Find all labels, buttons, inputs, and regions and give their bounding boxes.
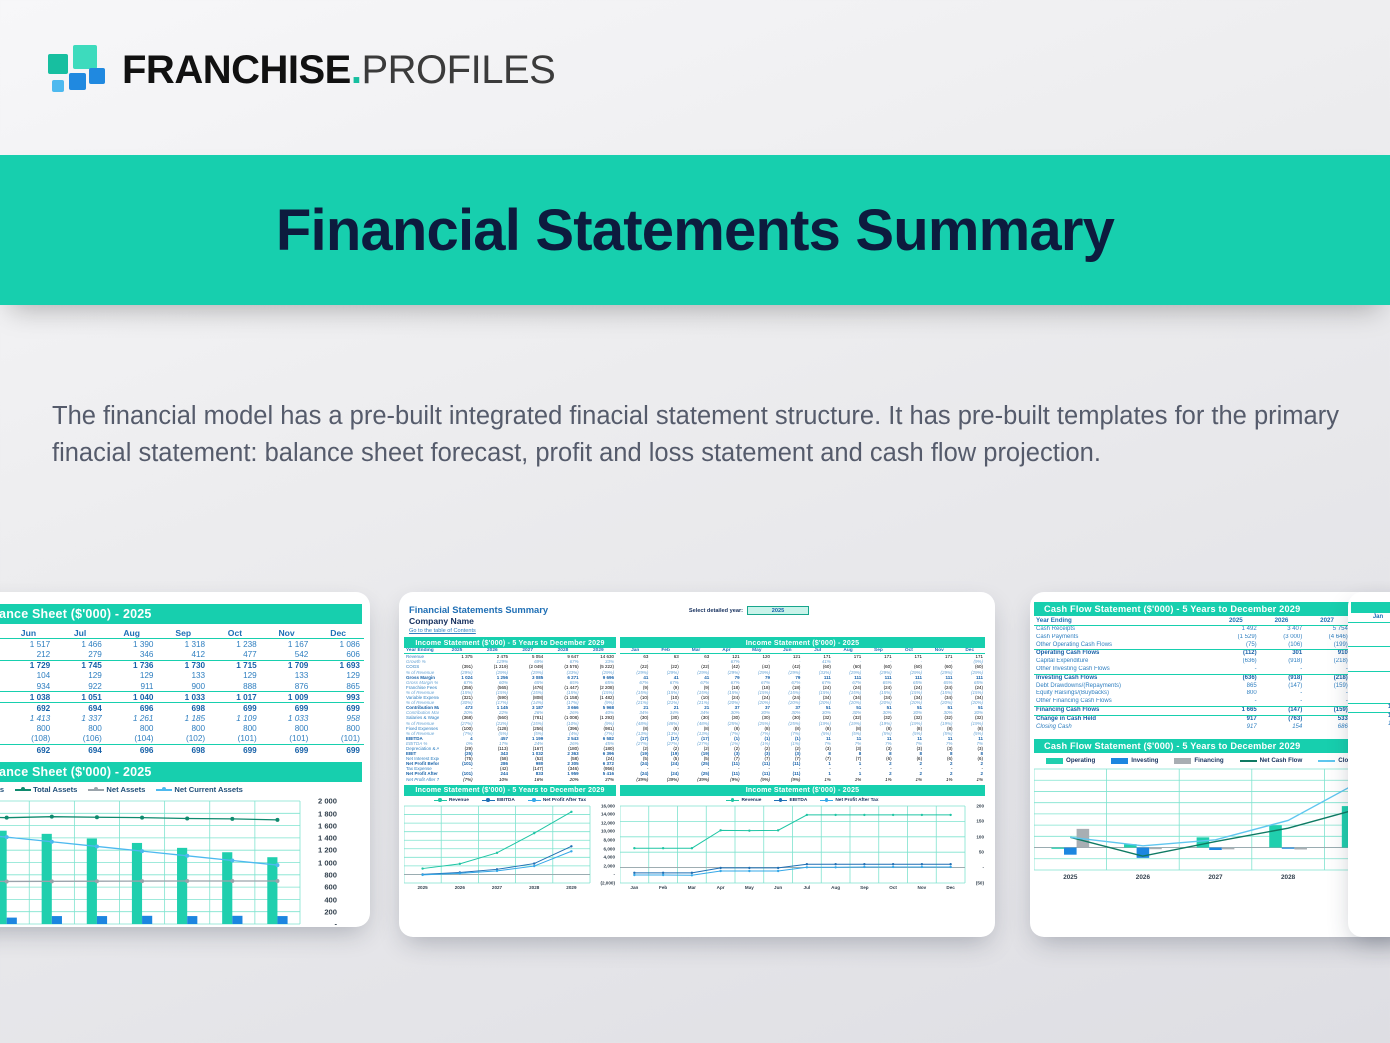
is-annual-title: Income Statement ($'000) - 5 Years to De… bbox=[404, 637, 616, 648]
year-selector-input[interactable]: 2025 bbox=[747, 606, 809, 615]
legend-label: Investing bbox=[1131, 757, 1158, 764]
table-header-row: Jan bbox=[1348, 614, 1390, 622]
balance-sheet-chart-title: Balance Sheet ($'000) - 2025 bbox=[0, 762, 362, 782]
y-tick-label: 1 400 bbox=[318, 834, 337, 843]
y-tick-label: 2,000 bbox=[604, 863, 616, 868]
table-cell: 129 bbox=[54, 671, 106, 681]
table-cell: 922 bbox=[54, 681, 106, 692]
column-header: Dec bbox=[312, 627, 364, 639]
table-cell: 800 bbox=[209, 724, 261, 734]
legend-label: Revenue bbox=[449, 798, 469, 803]
table-cell: 800 bbox=[158, 724, 210, 734]
legend-swatch-icon bbox=[1111, 758, 1128, 764]
table-cell: (4 646) bbox=[1304, 634, 1350, 642]
y-tick-label: 4,000 bbox=[604, 855, 616, 860]
table-cell: (108) bbox=[3, 734, 55, 745]
year-selector[interactable]: Select detailed year: 2025 bbox=[689, 606, 809, 615]
row-label: Other Investing Cash Flows bbox=[1034, 666, 1213, 674]
row-label: Change in Cash Held bbox=[1034, 715, 1213, 723]
table-cell: 1% bbox=[863, 777, 893, 782]
table-row: (36) bbox=[1348, 671, 1390, 679]
table-cell: 1 337 bbox=[54, 714, 106, 724]
table-cell: (218) bbox=[1304, 674, 1350, 682]
column-header: Aug bbox=[106, 627, 158, 639]
table-row: (97)(108)(106)(104)(102)(101)(101)(101) bbox=[0, 734, 364, 745]
table-cell: 1 693 bbox=[312, 660, 364, 671]
is-monthly-table: JanFebMarAprMayJunJulAugSepOctNovDec6363… bbox=[620, 648, 985, 781]
table-row: 703692694696698699699699 bbox=[0, 745, 364, 756]
y-tick-label: (2,000) bbox=[600, 880, 615, 885]
column-header: 2026 bbox=[1259, 617, 1305, 625]
table-cell: - bbox=[1304, 666, 1350, 674]
x-tick-label: Jun bbox=[764, 885, 793, 890]
brand-name-light: PROFILES bbox=[361, 48, 555, 92]
legend-item: Investing bbox=[1111, 757, 1158, 764]
x-tick-label: 2026 bbox=[441, 885, 478, 890]
table-cell: (39%) bbox=[681, 777, 711, 782]
table-cell: 698 bbox=[158, 745, 210, 756]
legend-line-icon bbox=[88, 789, 104, 791]
table-cell: 865 bbox=[1213, 682, 1259, 690]
table-cell: 1 731 bbox=[1348, 720, 1390, 728]
legend-label: urrent Liabilities bbox=[0, 785, 4, 794]
brand-name-bold: FRANCHISE bbox=[122, 48, 351, 92]
table-cell: 699 bbox=[312, 745, 364, 756]
table-cell: 212 bbox=[3, 649, 55, 660]
y-tick-label: 8,000 bbox=[604, 838, 616, 843]
table-cell: 37% bbox=[581, 777, 616, 782]
table-row: 178212279346412477542606 bbox=[0, 649, 364, 660]
y-tick-label: (50) bbox=[976, 880, 984, 885]
table-cell: 279 bbox=[54, 649, 106, 660]
table-cell: 1 709 bbox=[261, 660, 313, 671]
x-tick-label: Sep bbox=[850, 885, 879, 890]
table-cell: 32 bbox=[1348, 622, 1390, 630]
table-row: 1 4711 4131 3371 2611 1851 1091 033958 bbox=[0, 714, 364, 724]
table-cell: 917 bbox=[1213, 715, 1259, 723]
x-tick-label: 2027 bbox=[478, 885, 515, 890]
table-cell: - bbox=[1348, 695, 1390, 703]
table-cell: (9%) bbox=[772, 777, 802, 782]
table-cell: (7) bbox=[1348, 638, 1390, 646]
legend-item: Net Current Assets bbox=[156, 785, 243, 794]
table-cell: 910 bbox=[1304, 650, 1350, 658]
is-annual-chart-legend: RevenueEBITDANet Profit After Tax bbox=[404, 796, 616, 804]
table-cell: (1 529) bbox=[1213, 634, 1259, 642]
table-cell: 698 bbox=[158, 703, 210, 714]
table-cell: 1 051 bbox=[54, 692, 106, 703]
table-cell: - bbox=[1304, 698, 1350, 706]
table-cell: 154 bbox=[1259, 723, 1305, 731]
table-cell: (75) bbox=[1213, 641, 1259, 649]
table-cell: 900 bbox=[158, 681, 210, 692]
x-tick-label: Feb bbox=[649, 885, 678, 890]
is-annual-chart: (2,000)-2,0004,0006,0008,00010,00012,000… bbox=[404, 804, 616, 892]
cash-flow-chart-title: Cash Flow Statement ($'000) - 5 Years to… bbox=[1034, 739, 1390, 753]
table-row: 101104129129133129133129 bbox=[0, 671, 364, 681]
intro-paragraph: The financial model has a pre-built inte… bbox=[52, 398, 1342, 473]
table-cell: 699 bbox=[209, 703, 261, 714]
x-tick-label: May bbox=[735, 885, 764, 890]
x-tick-label: Aug bbox=[821, 885, 850, 890]
table-cell: 800 bbox=[1213, 690, 1259, 698]
legend-label: EBITDA bbox=[789, 798, 807, 803]
table-cell: 934 bbox=[3, 681, 55, 692]
table-cell: 958 bbox=[312, 714, 364, 724]
table-cell: 800 bbox=[54, 724, 106, 734]
table-cell: 412 bbox=[158, 649, 210, 660]
table-cell: - bbox=[1259, 666, 1305, 674]
table-cell: 1 261 bbox=[106, 714, 158, 724]
table-cell: 1% bbox=[802, 777, 832, 782]
row-label: Cash Payments bbox=[1034, 634, 1213, 642]
table-row: Cash Receipts1 4923 4075 7549 48814 720 bbox=[1034, 625, 1390, 633]
legend-item: Net Assets bbox=[88, 785, 145, 794]
column-header: Nov bbox=[261, 627, 313, 639]
table-row: 1 731 bbox=[1348, 712, 1390, 720]
table-cell: (918) bbox=[1259, 658, 1305, 666]
legend-item: Revenue bbox=[726, 798, 761, 803]
x-tick-label: 2027 bbox=[1179, 874, 1252, 881]
table-cell: 1 109 bbox=[209, 714, 261, 724]
table-row: Other Financing Cash Flows----- bbox=[1034, 698, 1390, 706]
y-tick-label: 400 bbox=[324, 895, 337, 904]
page-title: Financial Statements Summary bbox=[276, 197, 1114, 264]
column-header: Jul bbox=[54, 627, 106, 639]
table-cell: 16% bbox=[510, 777, 545, 782]
table-cell: 699 bbox=[261, 745, 313, 756]
table-row: - bbox=[1348, 663, 1390, 671]
legend-line-icon bbox=[528, 800, 541, 802]
table-cell: 1 017 bbox=[209, 692, 261, 703]
is-annual-chart-title: Income Statement ($'000) - 5 Years to De… bbox=[404, 785, 616, 796]
x-tick-label: 2029 bbox=[553, 885, 590, 890]
table-row: Financing Cash Flows1 665(147)(159)(172)… bbox=[1034, 706, 1390, 715]
x-axis-labels: MayJunJulAugSepOctNovDec bbox=[0, 925, 300, 927]
table-cell: 606 bbox=[312, 649, 364, 660]
cash-flow-table: Year Ending20252026202720282029Cash Rece… bbox=[1034, 617, 1390, 731]
legend-item: Net Profit After Tax bbox=[528, 798, 586, 803]
y-tick-label: 10,000 bbox=[601, 829, 615, 834]
table-cell: 800 bbox=[106, 724, 158, 734]
table-cell: 3 407 bbox=[1259, 625, 1305, 633]
table-row: Closing Cash9171546862 4175 925 bbox=[1034, 723, 1390, 731]
x-tick-label: Jul bbox=[793, 885, 822, 890]
column-header: 2025 bbox=[1213, 617, 1259, 625]
table-cell: 1% bbox=[924, 777, 954, 782]
table-cell: 699 bbox=[261, 703, 313, 714]
y-tick-label: - bbox=[613, 872, 615, 877]
row-label: Investing Cash Flows bbox=[1034, 674, 1213, 682]
table-row: Other Investing Cash Flows----- bbox=[1034, 666, 1390, 674]
row-label: % of Revenue bbox=[404, 721, 439, 726]
table-row: 1 789 bbox=[1348, 703, 1390, 712]
table-cell: 1 492 bbox=[1213, 625, 1259, 633]
table-row: 800 bbox=[1348, 687, 1390, 695]
table-row: Other Operating Cash Flows(75)(106)(199)… bbox=[1034, 641, 1390, 649]
table-row: Cash Payments(1 529)(3 000)(4 646)(7 117… bbox=[1034, 634, 1390, 642]
row-label: Equity Raisings/(Buybacks) bbox=[1034, 690, 1213, 698]
table-cell: 1 033 bbox=[158, 692, 210, 703]
table-cell: 477 bbox=[209, 649, 261, 660]
table-cell: 5 754 bbox=[1304, 625, 1350, 633]
x-tick-label: 2028 bbox=[1252, 874, 1325, 881]
table-cell: 800 bbox=[261, 724, 313, 734]
table-cell: 1 745 bbox=[54, 660, 106, 671]
row-label: Closing Cash bbox=[1034, 723, 1213, 731]
logo-squares-icon bbox=[48, 44, 108, 96]
y-tick-label: 12,000 bbox=[601, 820, 615, 825]
table-cell: (147) bbox=[1259, 682, 1305, 690]
column-header: Jan bbox=[1348, 614, 1390, 622]
table-cell: 694 bbox=[54, 703, 106, 714]
balance-sheet-card[interactable]: Balance Sheet ($'000) - 2025 MayJunJulAu… bbox=[0, 592, 370, 927]
table-cell: 1 665 bbox=[1213, 706, 1259, 715]
table-cell: 129 bbox=[209, 671, 261, 681]
legend-item: urrent Liabilities bbox=[0, 785, 4, 794]
table-cell: 1 040 bbox=[106, 692, 158, 703]
table-cell: 133 bbox=[158, 671, 210, 681]
table-cell: (106) bbox=[54, 734, 106, 745]
table-cell: 911 bbox=[106, 681, 158, 692]
row-label: Net Profit After Tax bbox=[404, 771, 439, 776]
table-row: (22) bbox=[1348, 647, 1390, 655]
table-cell: (636) bbox=[1213, 674, 1259, 682]
table-row: 703692694696698699699699 bbox=[0, 703, 364, 714]
y-tick-label: 1 600 bbox=[318, 821, 337, 830]
y-tick-label: 1 000 bbox=[318, 858, 337, 867]
row-label: Other Operating Cash Flows bbox=[1034, 641, 1213, 649]
table-cell: (104) bbox=[106, 734, 158, 745]
is-monthly-title: Income Statement ($'000) - 2025 bbox=[620, 637, 985, 648]
company-name: Company Name bbox=[409, 616, 995, 626]
y-tick-label: 2 000 bbox=[318, 797, 337, 806]
row-label: Salaries & Wages bbox=[404, 715, 439, 720]
table-cell: (39%) bbox=[650, 777, 680, 782]
table-cell: 542 bbox=[261, 649, 313, 660]
table-cell: (101) bbox=[261, 734, 313, 745]
table-cell: 1 033 bbox=[261, 714, 313, 724]
legend-label: Net Profit After Tax bbox=[835, 798, 878, 803]
table-cell: 533 bbox=[1304, 715, 1350, 723]
balance-sheet-chart: -2004006008001 0001 2001 4001 6001 8002 … bbox=[0, 797, 338, 927]
table-cell: - bbox=[1259, 698, 1305, 706]
mid-chart-m-svg bbox=[620, 804, 985, 892]
x-tick-label: 2026 bbox=[1107, 874, 1180, 881]
legend-item: Total Assets bbox=[15, 785, 77, 794]
table-cell: 686 bbox=[1304, 723, 1350, 731]
table-of-contents-link[interactable]: Go to the table of Contents bbox=[409, 628, 995, 634]
legend-line-icon bbox=[774, 800, 787, 802]
table-row: 32 bbox=[1348, 622, 1390, 630]
table-row: 989 bbox=[1348, 679, 1390, 687]
table-cell: 346 bbox=[106, 649, 158, 660]
y-tick-label: 16,000 bbox=[601, 803, 615, 808]
table-cell: (22) bbox=[1348, 647, 1390, 655]
table-cell: (159) bbox=[1304, 682, 1350, 690]
jan-band bbox=[1351, 602, 1390, 613]
table-cell: (106) bbox=[1259, 641, 1305, 649]
x-axis-labels: JanFebMarAprMayJunJulAugSepOctNovDec bbox=[620, 884, 965, 892]
table-row: 800800800800800800800800 bbox=[0, 724, 364, 734]
row-label: Financing Cash Flows bbox=[1034, 706, 1213, 715]
table-row: Net Profit After Tax %(7%)10%16%20%37% bbox=[404, 777, 616, 782]
balance-sheet-table: MayJunJulAugSepOctNovDec1 5711 5171 4661… bbox=[0, 627, 364, 755]
row-label: Net Profit After Tax % bbox=[404, 777, 439, 782]
table-cell: 1 729 bbox=[3, 660, 55, 671]
table-cell: (3 000) bbox=[1259, 634, 1305, 642]
y-tick-label: 800 bbox=[324, 871, 337, 880]
table-cell: 1 730 bbox=[158, 660, 210, 671]
year-selector-label: Select detailed year: bbox=[689, 608, 743, 614]
y-tick-label: 1 800 bbox=[318, 809, 337, 818]
y-axis-labels: (50)-50100150200 bbox=[967, 804, 985, 883]
brand-logo: FRANCHISE.PROFILES bbox=[48, 44, 555, 96]
legend-line-icon bbox=[156, 789, 172, 791]
row-label: Gross Margin bbox=[404, 675, 439, 680]
legend-label: Net Cash Flow bbox=[1260, 757, 1303, 764]
table-cell: 1 731 bbox=[1348, 712, 1390, 720]
table-cell: (101) bbox=[209, 734, 261, 745]
x-tick-label: 2028 bbox=[516, 885, 553, 890]
table-row: 945934922911900888876865 bbox=[0, 681, 364, 692]
legend-line-icon bbox=[482, 800, 495, 802]
table-cell: (918) bbox=[1259, 674, 1305, 682]
cash-flow-chart-legend: OperatingInvestingFinancingNet Cash Flow… bbox=[1030, 755, 1390, 766]
legend-label: EBITDA bbox=[497, 798, 515, 803]
table-cell: 1 390 bbox=[106, 639, 158, 650]
y-tick-label: 50 bbox=[979, 850, 984, 855]
table-cell: 1 466 bbox=[54, 639, 106, 650]
brand-wordmark: FRANCHISE.PROFILES bbox=[122, 50, 555, 90]
table-cell: 1% bbox=[954, 777, 985, 782]
is-monthly-chart-title: Income Statement ($'000) - 2025 bbox=[620, 785, 985, 796]
table-cell: 1 413 bbox=[3, 714, 55, 724]
table-cell: 800 bbox=[1348, 687, 1390, 695]
table-row: 1 0451 0381 0511 0401 0331 0171 009993 bbox=[0, 692, 364, 703]
table-cell: (218) bbox=[1304, 658, 1350, 666]
table-cell: 800 bbox=[312, 724, 364, 734]
table-cell: 1 736 bbox=[106, 660, 158, 671]
x-tick-label: 2025 bbox=[1034, 874, 1107, 881]
y-tick-label: - bbox=[334, 920, 337, 927]
y-tick-label: 100 bbox=[976, 834, 984, 839]
table-cell: 1 789 bbox=[1348, 703, 1390, 712]
table-cell: (147) bbox=[1259, 706, 1305, 715]
table-cell: 800 bbox=[3, 724, 55, 734]
table-cell: (9%) bbox=[742, 777, 772, 782]
table-cell: 1 185 bbox=[158, 714, 210, 724]
table-cell: 1 009 bbox=[261, 692, 313, 703]
table-header-row: MayJunJulAugSepOctNovDec bbox=[0, 627, 364, 639]
table-cell: 301 bbox=[1259, 650, 1305, 658]
legend-item: Net Cash Flow bbox=[1240, 757, 1303, 764]
table-cell: 699 bbox=[209, 745, 261, 756]
row-label: Capital Expenditure bbox=[1034, 658, 1213, 666]
column-header: Oct bbox=[209, 627, 261, 639]
table-cell: 692 bbox=[3, 745, 55, 756]
table-row: 1 731 bbox=[1348, 720, 1390, 728]
table-cell: (199) bbox=[1304, 641, 1350, 649]
legend-line-icon bbox=[1318, 760, 1335, 762]
table-cell: (7%) bbox=[439, 777, 474, 782]
y-tick-label: 200 bbox=[324, 907, 337, 916]
table-row: Change in Cash Held917(763)5331 7313 508 bbox=[1034, 715, 1390, 723]
cash-flow-chart: (2 000)(1 000)-1 0002 0003 0004 0005 000… bbox=[1034, 766, 1390, 884]
table-cell: (101) bbox=[312, 734, 364, 745]
y-axis-labels: (2,000)-2,0004,0006,0008,00010,00012,000… bbox=[592, 804, 616, 883]
x-tick-label: 2025 bbox=[404, 885, 441, 890]
table-cell: 888 bbox=[209, 681, 261, 692]
table-cell: 129 bbox=[312, 671, 364, 681]
table-cell: 1 086 bbox=[312, 639, 364, 650]
table-cell: - bbox=[1259, 690, 1305, 698]
table-cell: 696 bbox=[106, 745, 158, 756]
row-label: Operating Cash Flows bbox=[1034, 650, 1213, 658]
column-header: Jun bbox=[3, 627, 55, 639]
y-axis-labels: -2004006008001 0001 2001 4001 6001 8002 … bbox=[302, 797, 338, 924]
table-cell: 993 bbox=[312, 692, 364, 703]
legend-item: EBITDA bbox=[482, 798, 515, 803]
legend-item: Net Profit After Tax bbox=[820, 798, 878, 803]
table-cell: (39%) bbox=[620, 777, 650, 782]
table-row: Debt Drawdowns/(Repayments)865(147)(159)… bbox=[1034, 682, 1390, 690]
x-axis-labels: 20252026202720282029 bbox=[1034, 871, 1390, 884]
y-tick-label: 150 bbox=[976, 819, 984, 824]
y-tick-label: 6,000 bbox=[604, 846, 616, 851]
brand-dot: . bbox=[351, 48, 362, 92]
cash-flow-jan-table: Jan32(47)(7)(22)(36)-(36)989800-1 7891 7… bbox=[1348, 614, 1390, 728]
is-monthly-chart-legend: RevenueEBITDANet Profit After Tax bbox=[620, 796, 985, 804]
column-header: 2027 bbox=[1304, 617, 1350, 625]
legend-item: Financing bbox=[1174, 757, 1223, 764]
legend-line-icon bbox=[726, 800, 739, 802]
legend-label: Total Assets bbox=[33, 785, 77, 794]
table-cell: 1% bbox=[833, 777, 863, 782]
cash-flow-table-title: Cash Flow Statement ($'000) - 5 Years to… bbox=[1034, 602, 1390, 616]
table-cell: 694 bbox=[54, 745, 106, 756]
legend-line-icon bbox=[15, 789, 31, 791]
income-statement-card[interactable]: Financial Statements Summary Company Nam… bbox=[399, 592, 995, 937]
screenshot-gallery: Balance Sheet ($'000) - 2025 MayJunJulAu… bbox=[0, 592, 1390, 942]
table-row: 1 7491 7291 7451 7361 7301 7151 7091 693 bbox=[0, 660, 364, 671]
table-cell: (36) bbox=[1348, 671, 1390, 679]
x-tick-label: Dec bbox=[936, 885, 965, 890]
cash-flow-jan-column-card[interactable]: Jan32(47)(7)(22)(36)-(36)989800-1 7891 7… bbox=[1348, 592, 1390, 937]
cf-chart-svg bbox=[1034, 766, 1390, 884]
y-tick-label: 1 200 bbox=[318, 846, 337, 855]
table-cell: 10% bbox=[475, 777, 510, 782]
table-cell: (36) bbox=[1348, 655, 1390, 663]
table-row: 1 5711 5171 4661 3901 3181 2381 1671 086 bbox=[0, 639, 364, 650]
table-cell: (159) bbox=[1304, 706, 1350, 715]
legend-item: Operating bbox=[1046, 757, 1095, 764]
row-label: Debt Drawdowns/(Repayments) bbox=[1034, 682, 1213, 690]
table-cell: 1 038 bbox=[3, 692, 55, 703]
legend-line-icon bbox=[1240, 760, 1257, 762]
table-cell: - bbox=[1304, 690, 1350, 698]
x-tick-label: Jan bbox=[620, 885, 649, 890]
cash-flow-card[interactable]: Cash Flow Statement ($'000) - 5 Years to… bbox=[1030, 592, 1390, 937]
table-row: Operating Cash Flows(112)3019101 9863 69… bbox=[1034, 650, 1390, 658]
table-cell: 699 bbox=[312, 703, 364, 714]
is-annual-table: Year Ending20252026202720282029Revenue1 … bbox=[404, 648, 616, 781]
legend-label: Financing bbox=[1194, 757, 1223, 764]
page-header: FRANCHISE.PROFILES bbox=[0, 0, 1390, 155]
legend-label: Revenue bbox=[741, 798, 761, 803]
legend-item: Revenue bbox=[434, 798, 469, 803]
row-label: % of Revenue bbox=[404, 670, 439, 675]
